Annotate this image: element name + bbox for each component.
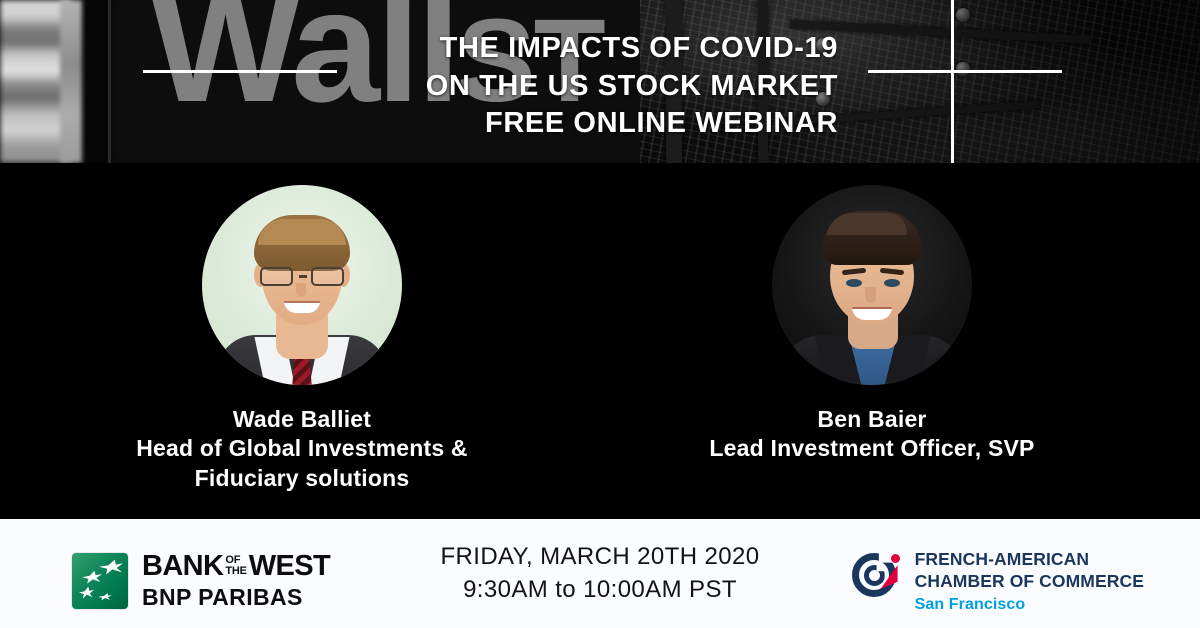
speaker-2-nose: [865, 287, 876, 303]
bank-of-the-west-logo: BANK OF THE WEST BNP PARIBAS: [72, 552, 330, 609]
speaker-1-glasses: [258, 267, 346, 287]
bnp-paribas-subtitle: BNP PARIBAS: [142, 586, 330, 609]
glasses-lens-right: [311, 267, 344, 286]
bnp-star-icon-2: [82, 571, 102, 584]
bank-of-the-west-wordmark: BANK OF THE WEST BNP PARIBAS: [142, 552, 330, 609]
bnp-star-icon-3: [79, 587, 94, 599]
speaker-2-eye-right: [884, 279, 900, 287]
event-date: FRIDAY, MARCH 20TH 2020: [440, 544, 759, 570]
decorative-rule-right: [868, 70, 1062, 73]
bank-name-bank: BANK: [142, 552, 223, 581]
bnp-paribas-emblem: [72, 553, 128, 609]
speaker-1-role-line-1: Head of Global Investments &: [42, 434, 562, 463]
facc-red-dot-icon: [891, 554, 900, 563]
facc-wordmark: FRENCH-AMERICAN CHAMBER OF COMMERCE San …: [915, 549, 1144, 616]
speaker-1-role-line-2: Fiduciary solutions: [42, 464, 562, 493]
title-line-3: FREE ONLINE WEBINAR: [426, 105, 838, 143]
decorative-rule-left: [143, 70, 337, 73]
speakers-section: Wade Balliet Head of Global Investments …: [0, 163, 1200, 519]
facc-line-1: FRENCH-AMERICAN: [915, 549, 1144, 571]
bnp-star-icon-4: [98, 593, 112, 601]
event-time: 9:30AM to 10:00AM PST: [463, 577, 737, 603]
speaker-2-hair-highlight: [826, 213, 909, 235]
title-line-1: THE IMPACTS OF COVID-19: [426, 30, 838, 68]
speaker-2-avatar: [772, 185, 972, 385]
decorative-rule-vertical: [951, 0, 954, 163]
speaker-1-avatar: [202, 185, 402, 385]
title-line-2: ON THE US STOCK MARKET: [426, 68, 838, 106]
hero-banner: WallST THE IMPACTS OF COVID-19 ON THE US…: [0, 0, 1200, 163]
webinar-title: THE IMPACTS OF COVID-19 ON THE US STOCK …: [426, 30, 838, 143]
webinar-poster: WallST THE IMPACTS OF COVID-19 ON THE US…: [0, 0, 1200, 628]
bank-name-west: WEST: [249, 552, 330, 581]
bank-name-of-the: OF THE: [225, 555, 246, 578]
bank-name-line: BANK OF THE WEST: [142, 552, 330, 581]
bank-name-the: THE: [225, 566, 246, 577]
footer-bar: BANK OF THE WEST BNP PARIBAS FRIDAY, MAR…: [0, 519, 1200, 628]
speaker-2-name: Ben Baier: [612, 405, 1132, 434]
speaker-1-name: Wade Balliet: [42, 405, 562, 434]
french-american-chamber-logo: FRENCH-AMERICAN CHAMBER OF COMMERCE San …: [851, 549, 1144, 616]
speaker-card-1: Wade Balliet Head of Global Investments …: [42, 163, 562, 493]
glasses-lens-left: [260, 267, 293, 286]
speaker-2-eye-left: [846, 279, 862, 287]
facc-city: San Francisco: [915, 595, 1144, 616]
speaker-2-role-line-1: Lead Investment Officer, SVP: [612, 434, 1132, 463]
bnp-star-icon-1: [99, 560, 123, 575]
facc-emblem-icon: [851, 552, 903, 604]
glasses-bridge: [299, 275, 307, 278]
speaker-1-hair-highlight: [258, 219, 346, 245]
speaker-card-2: Ben Baier Lead Investment Officer, SVP: [612, 163, 1132, 464]
facc-line-2: CHAMBER OF COMMERCE: [915, 571, 1144, 593]
